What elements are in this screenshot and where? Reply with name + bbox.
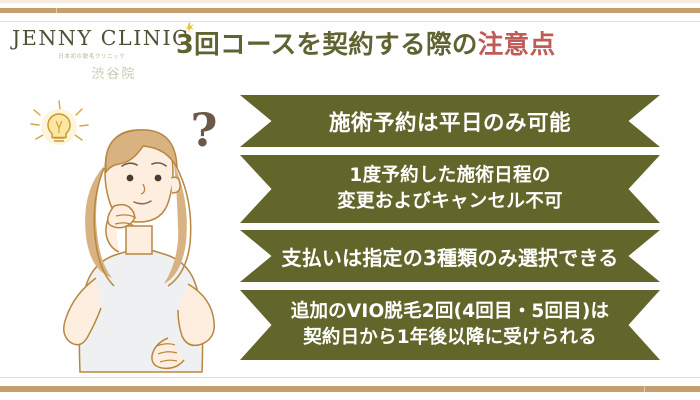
bottom-hairline [0, 377, 700, 378]
banner-text: 施術予約は平日のみ可能 [240, 106, 660, 137]
banner-vio-timing: 追加のVIO脱毛2回(4回目・5回目)は 契約日から1年後以降に受けられる [240, 290, 660, 360]
banner-line: 1度予約した施術日程の [280, 163, 620, 189]
top-bar-seam [56, 8, 57, 13]
banner-line: 施術予約は平日のみ可能 [280, 106, 620, 137]
bottom-bar-seam [644, 386, 645, 392]
banner-no-change-cancel: 1度予約した施術日程の 変更およびキャンセル不可 [240, 155, 660, 223]
bottom-gold-bar [0, 386, 700, 392]
banner-line: 契約日から1年後以降に受けられる [280, 325, 620, 351]
question-mark: ? [191, 103, 218, 157]
banner-line: 支払いは指定の3種類のみ選択できる [280, 242, 620, 271]
page-title-accent: 注意点 [478, 30, 556, 60]
top-thin-rule [0, 0, 700, 3]
top-gold-bar [0, 8, 700, 13]
banner-text: 1度予約した施術日程の 変更およびキャンセル不可 [240, 163, 660, 216]
banner-text: 支払いは指定の3種類のみ選択できる [240, 242, 660, 271]
logo-branch: 渋谷院 [56, 63, 172, 82]
page-title: 3回コースを契約する際の注意点 [176, 33, 555, 59]
thinking-woman-illustration: ? [18, 88, 243, 373]
banner-weekday-only: 施術予約は平日のみ可能 [240, 95, 660, 147]
page-title-plain: 3回コースを契約する際の [176, 30, 478, 60]
logo-name-text: JENNY CLINIC [12, 26, 189, 50]
top-hairline [0, 21, 700, 22]
banner-line: 変更およびキャンセル不可 [280, 189, 620, 215]
logo-wordmark: JENNY CLINIC [12, 28, 189, 49]
banner-line: 追加のVIO脱毛2回(4回目・5回目)は [280, 299, 620, 325]
banner-text: 追加のVIO脱毛2回(4回目・5回目)は 契約日から1年後以降に受けられる [240, 299, 660, 352]
slide-canvas: JENNY CLINIC 日本初の脱毛クリニック 渋谷院 3回コースを契約する際… [0, 0, 700, 400]
banner-payment-methods: 支払いは指定の3種類のみ選択できる [240, 230, 660, 282]
clinic-logo: JENNY CLINIC 日本初の脱毛クリニック 渋谷院 [12, 28, 172, 82]
logo-tagline: 日本初の脱毛クリニック [12, 53, 172, 60]
